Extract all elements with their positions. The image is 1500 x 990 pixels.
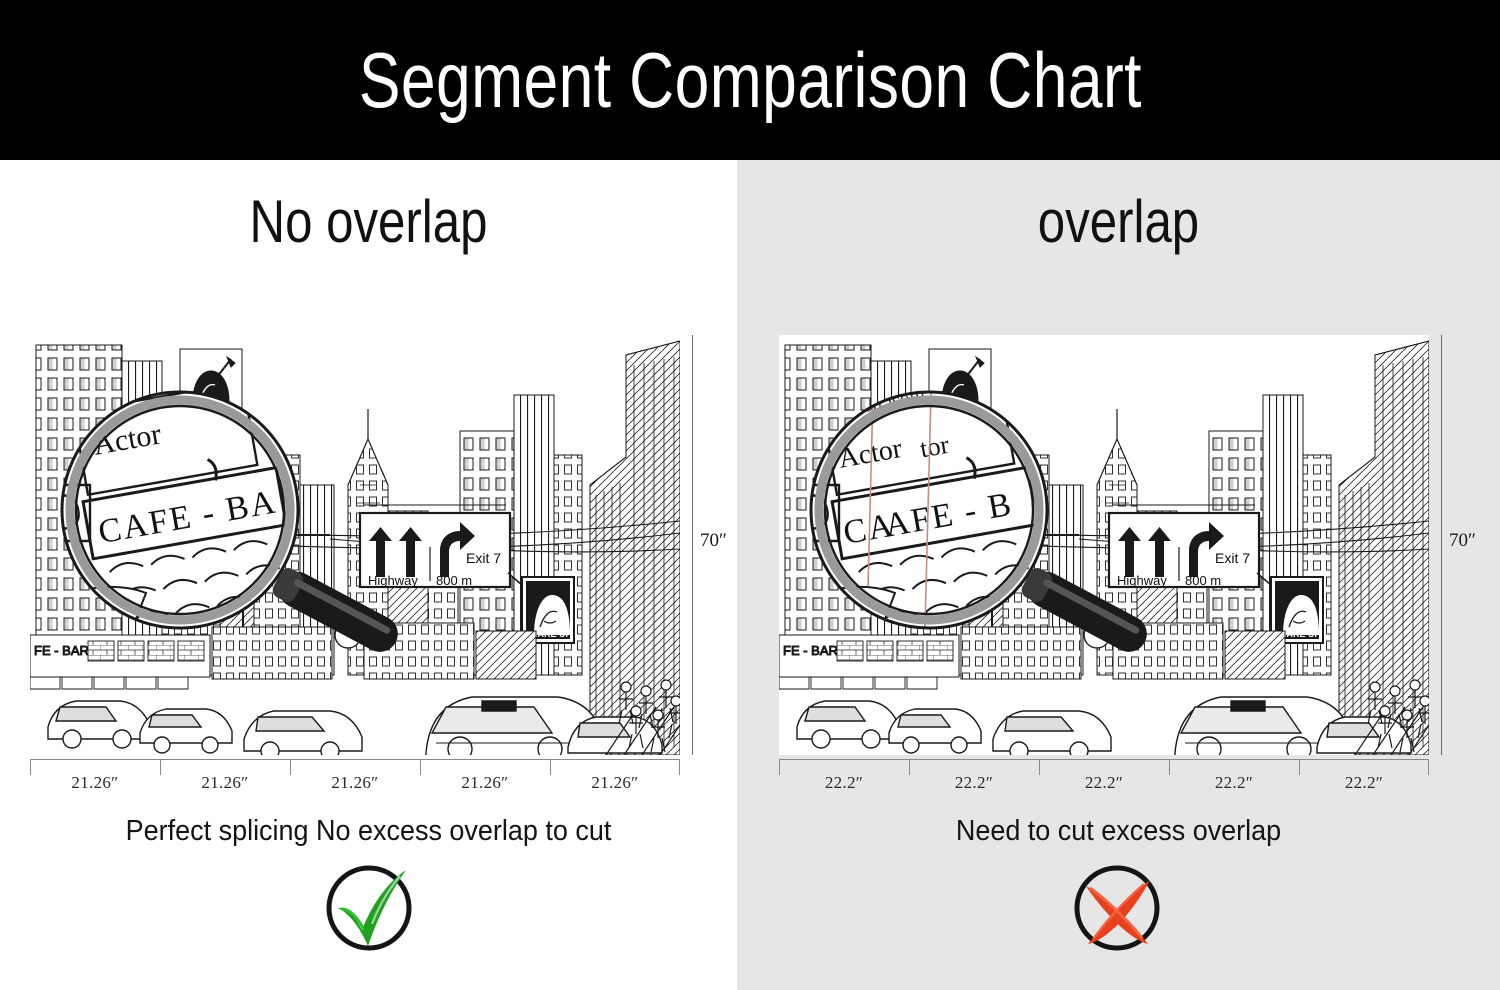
segment-tick: 22.2″ — [779, 759, 909, 801]
segment-tick: 21.26″ — [30, 759, 160, 801]
segment-tick: 21.26″ — [550, 759, 680, 801]
segment-dimensions-no-overlap: 21.26″ 21.26″ 21.26″ 21.26″ 21.26″ — [30, 759, 680, 801]
segment-tick: 21.26″ — [290, 759, 420, 801]
segment-label: 22.2″ — [1085, 773, 1123, 793]
verdict-overlap — [737, 860, 1500, 954]
panel-heading-overlap: overlap — [806, 192, 1432, 252]
svg-text:800 m: 800 m — [1185, 573, 1221, 588]
panel-no-overlap: No overlap — [0, 160, 737, 990]
svg-text:Highway: Highway — [1117, 573, 1167, 588]
segment-label: 22.2″ — [825, 773, 863, 793]
svg-text:800 m: 800 m — [436, 573, 472, 588]
height-dimension-line — [1441, 335, 1442, 755]
panel-heading-no-overlap: No overlap — [66, 192, 670, 252]
segment-label: 21.26″ — [331, 773, 378, 793]
height-dimension-line — [692, 335, 693, 755]
segment-tick: 21.26″ — [420, 759, 550, 801]
svg-text:FE - BAR: FE - BAR — [34, 643, 89, 658]
verdict-no-overlap — [0, 860, 737, 954]
segment-label: 22.2″ — [955, 773, 993, 793]
segment-tick: 22.2″ — [1039, 759, 1169, 801]
segment-dimensions-overlap: 22.2″ 22.2″ 22.2″ 22.2″ 22.2″ — [779, 759, 1429, 801]
svg-text:tor: tor — [918, 430, 952, 464]
height-dimension-label: 70″ — [700, 530, 727, 552]
segment-label: 22.2″ — [1215, 773, 1253, 793]
screenshot-root: Segment Comparison Chart No overlap — [0, 0, 1500, 990]
green-check-icon — [322, 860, 416, 954]
segment-label: 21.26″ — [591, 773, 638, 793]
svg-text:Exit 7: Exit 7 — [466, 550, 501, 566]
page-title: Segment Comparison Chart — [358, 41, 1141, 119]
highway-sign-art: Highway 800 m Exit 7 — [1109, 505, 1259, 588]
height-dimension-label: 70″ — [1449, 530, 1476, 552]
segment-tick: 22.2″ — [1169, 759, 1299, 801]
red-cross-icon — [1072, 860, 1166, 954]
segment-label: 21.26″ — [461, 773, 508, 793]
segment-label: 21.26″ — [201, 773, 248, 793]
artwork-overlap: Highway 800 m Exit 7 — [779, 335, 1429, 755]
segment-tick: 22.2″ — [909, 759, 1039, 801]
svg-text:Exit 7: Exit 7 — [1215, 550, 1250, 566]
figure-overlap: Highway 800 m Exit 7 — [779, 335, 1429, 755]
title-bar: Segment Comparison Chart — [0, 0, 1500, 160]
segment-tick: 22.2″ — [1299, 759, 1429, 801]
svg-text:FE - BAR: FE - BAR — [783, 643, 838, 658]
svg-text:Highway: Highway — [368, 573, 418, 588]
caption-overlap: Need to cut excess overlap — [764, 815, 1474, 848]
caption-no-overlap: Perfect splicing No excess overlap to cu… — [26, 815, 711, 848]
panel-overlap: overlap — [737, 160, 1500, 990]
artwork-no-overlap: Highway 800 m Exit 7 — [30, 335, 680, 755]
figure-no-overlap: Highway 800 m Exit 7 — [30, 335, 680, 755]
height-dimension-overlap: 70″ — [1435, 335, 1500, 755]
segment-tick: 21.26″ — [160, 759, 290, 801]
segment-label: 22.2″ — [1345, 773, 1383, 793]
comparison-panels: No overlap — [0, 160, 1500, 990]
segment-label: 21.26″ — [71, 773, 118, 793]
highway-sign-art: Highway 800 m Exit 7 — [360, 505, 510, 588]
